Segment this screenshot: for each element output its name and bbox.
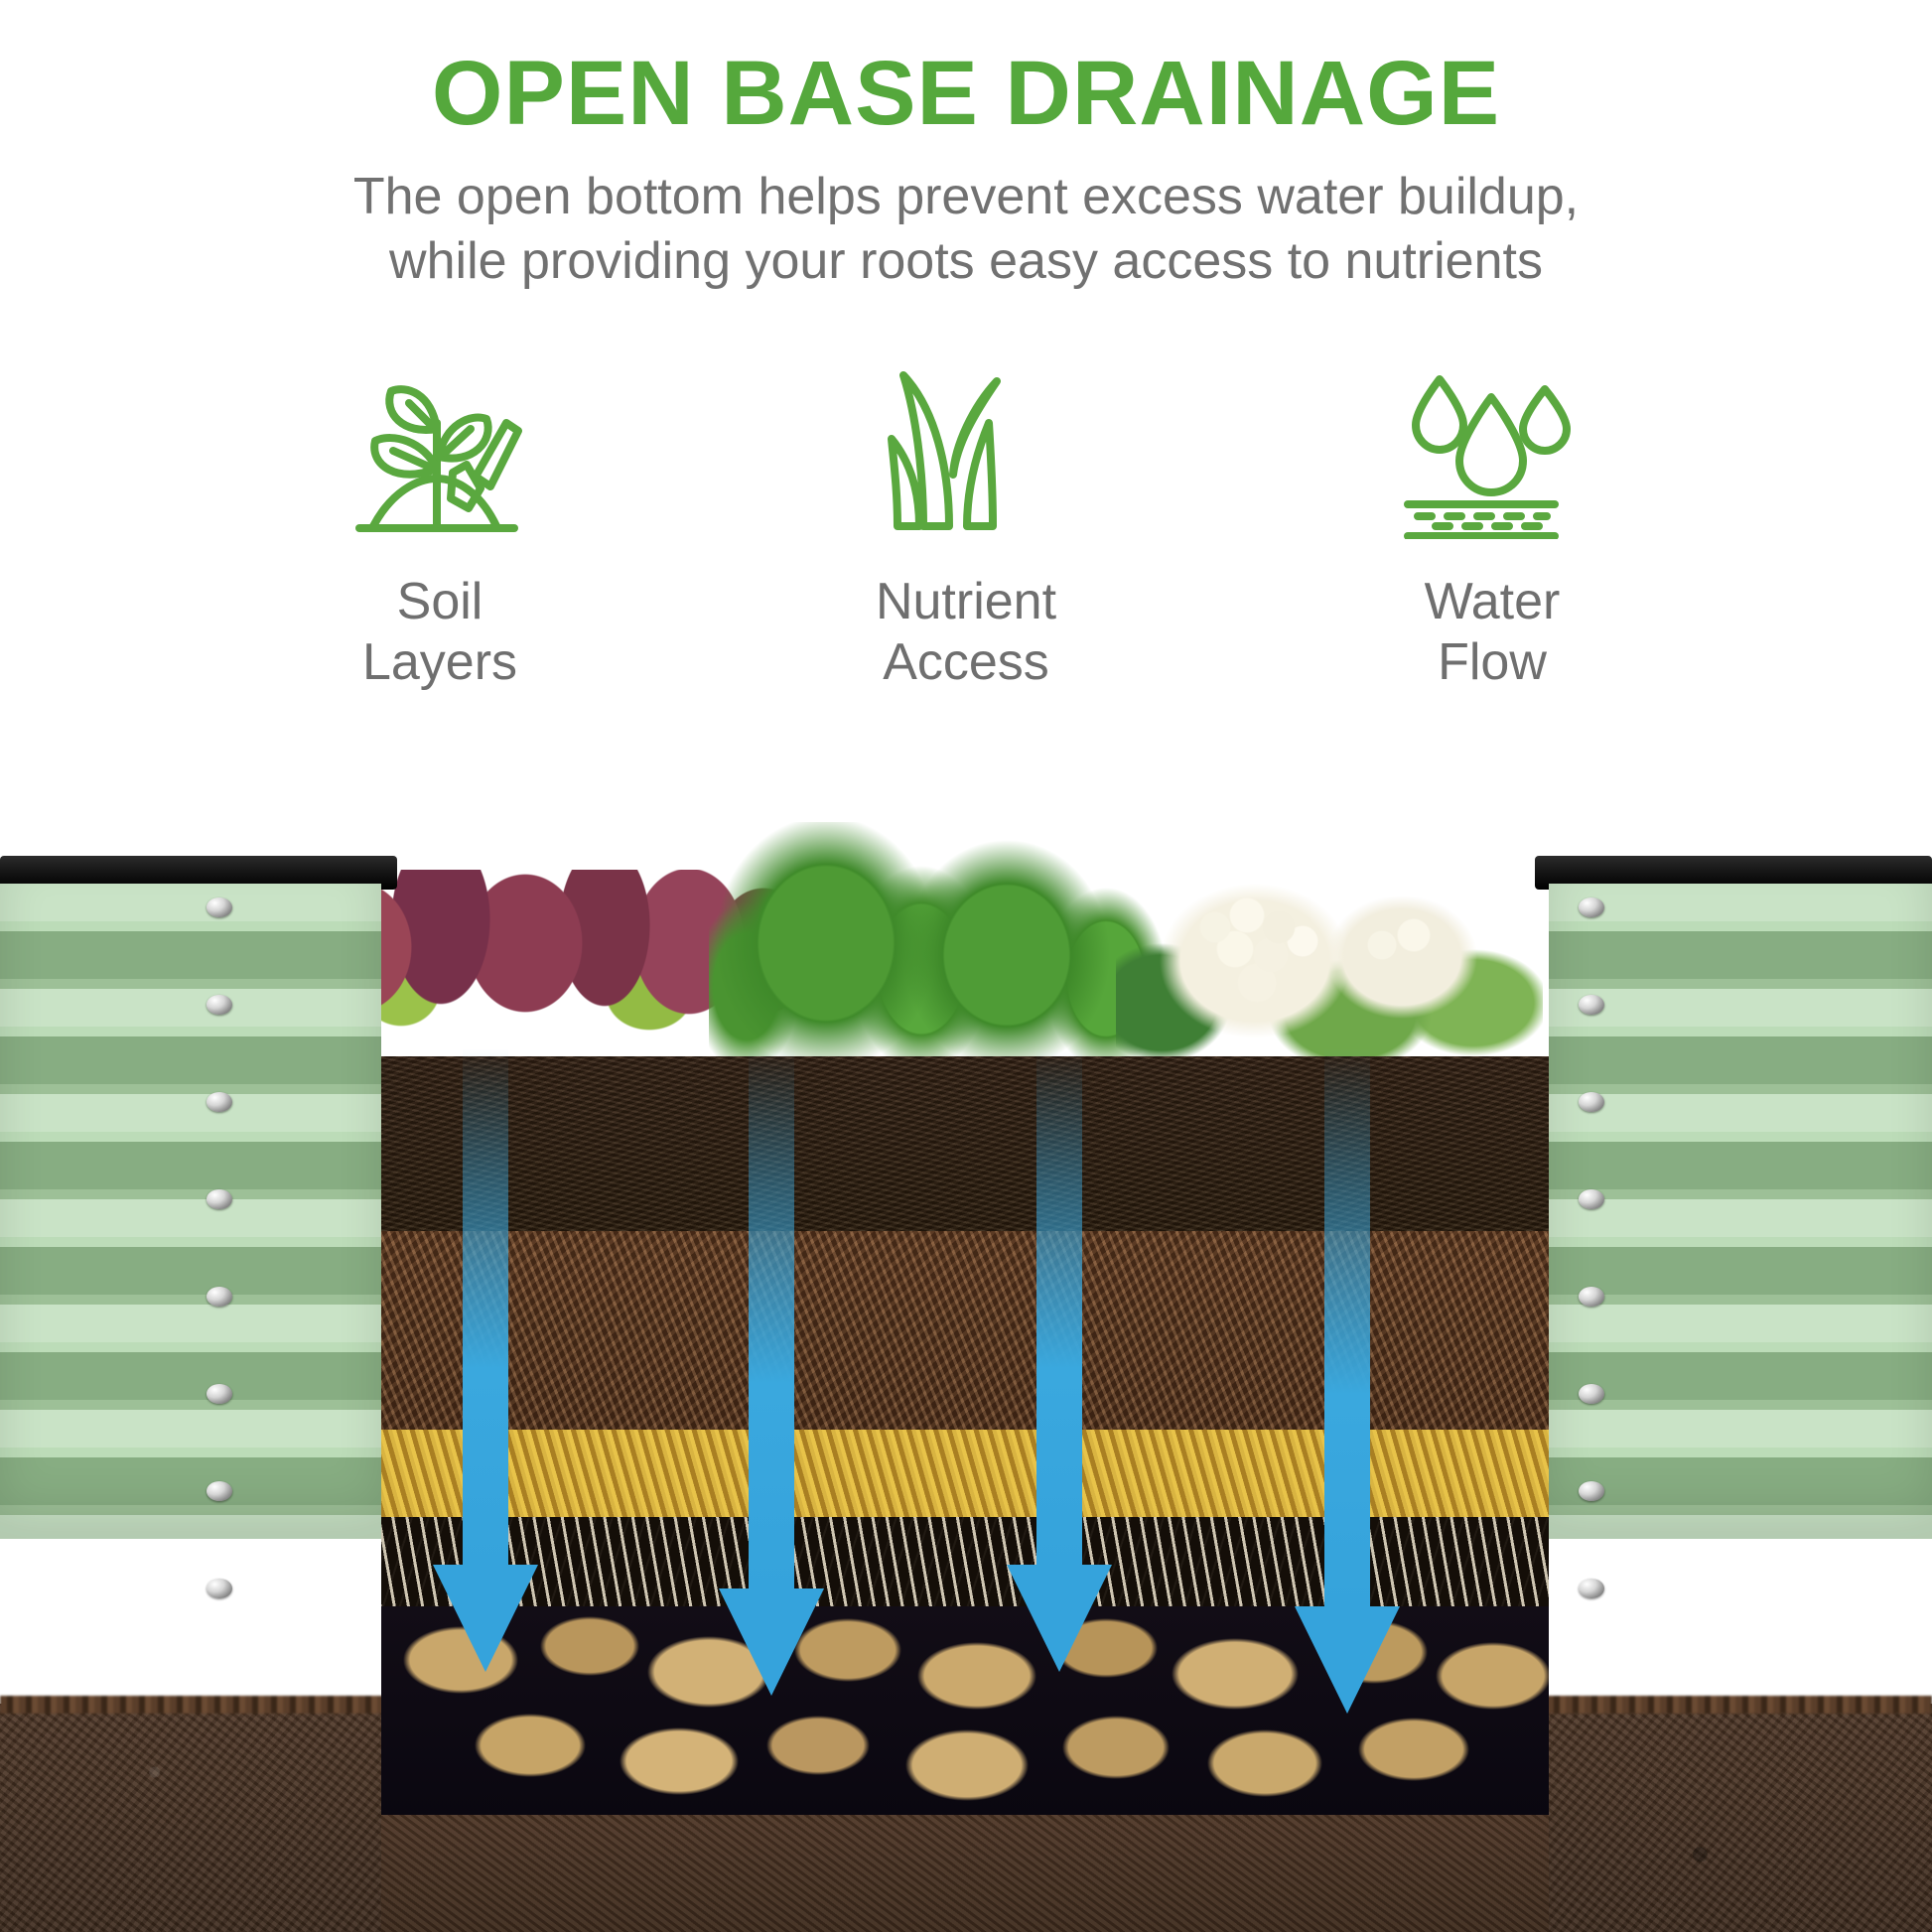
rivet-icon: [1579, 1579, 1604, 1598]
rivet-icon: [1579, 995, 1604, 1015]
planter-wall-right: [1549, 884, 1932, 1539]
soil-layer-twigs-branches: [381, 1517, 1549, 1620]
rivet-icon: [207, 1287, 232, 1307]
feature-item-soil-layers: Soil Layers: [291, 347, 589, 694]
water-flow-arrow: [1036, 1048, 1082, 1672]
arrow-head-icon: [1007, 1565, 1112, 1672]
feature-label-soil-layers: Soil Layers: [291, 572, 589, 694]
feature-label-line-1: Soil: [291, 572, 589, 632]
plant-green-romaine-lettuce: [709, 822, 1175, 1058]
arrow-head-icon: [719, 1588, 824, 1696]
planter-wall-left: [0, 884, 381, 1539]
rivet-icon: [1579, 1287, 1604, 1307]
rivet-icon: [207, 1481, 232, 1501]
arrow-head-icon: [433, 1565, 538, 1672]
arrow-shaft: [749, 1048, 794, 1588]
feature-item-nutrient-access: Nutrient Access: [817, 347, 1115, 694]
arrow-head-icon: [1295, 1606, 1400, 1714]
feature-list: Soil Layers Nutrient Access: [0, 347, 1932, 694]
grass-blades-icon: [817, 347, 1115, 556]
water-droplets-permeable-layer-icon: [1343, 347, 1641, 556]
feature-label-line-2: Flow: [1343, 632, 1641, 693]
water-flow-arrow: [1324, 1048, 1370, 1714]
feature-label-line-1: Nutrient: [817, 572, 1115, 632]
rivet-column-left: [207, 897, 232, 1598]
feature-label-water-flow: Water Flow: [1343, 572, 1641, 694]
feature-label-line-1: Water: [1343, 572, 1641, 632]
soil-layer-mulch-wood-chips: [381, 1231, 1549, 1430]
soil-cross-section: [381, 822, 1549, 1932]
water-flow-arrow: [463, 1048, 508, 1672]
rivet-icon: [207, 897, 232, 917]
feature-label-line-2: Access: [817, 632, 1115, 693]
rivet-icon: [207, 995, 232, 1015]
seedling-trowel-icon: [291, 347, 589, 556]
header: OPEN BASE DRAINAGE The open bottom helps…: [0, 0, 1932, 294]
feature-item-water-flow: Water Flow: [1343, 347, 1641, 694]
rivet-icon: [1579, 1092, 1604, 1112]
rivet-icon: [1579, 897, 1604, 917]
arrow-shaft: [463, 1048, 508, 1565]
subtitle-line-2: while providing your roots easy access t…: [0, 229, 1932, 294]
subtitle-line-1: The open bottom helps prevent excess wat…: [0, 165, 1932, 229]
soil-layer-topsoil-compost: [381, 1056, 1549, 1231]
rivet-icon: [1579, 1384, 1604, 1404]
rivet-icon: [1579, 1481, 1604, 1501]
rivet-icon: [1579, 1189, 1604, 1209]
plant-cauliflower: [1116, 854, 1543, 1058]
arrow-shaft: [1324, 1048, 1370, 1606]
rivet-icon: [207, 1384, 232, 1404]
water-flow-arrow: [749, 1048, 794, 1696]
page-subtitle: The open bottom helps prevent excess wat…: [0, 165, 1932, 294]
rivet-icon: [207, 1579, 232, 1598]
rivet-icon: [207, 1092, 232, 1112]
feature-label-nutrient-access: Nutrient Access: [817, 572, 1115, 694]
rivet-column-right: [1579, 897, 1604, 1598]
page-title: OPEN BASE DRAINAGE: [0, 48, 1932, 139]
rivet-icon: [207, 1189, 232, 1209]
arrow-shaft: [1036, 1048, 1082, 1565]
product-cross-section-illustration: [0, 822, 1932, 1932]
plant-row: [381, 822, 1549, 1058]
feature-label-line-2: Layers: [291, 632, 589, 693]
soil-layer-native-ground: [381, 1815, 1549, 1932]
